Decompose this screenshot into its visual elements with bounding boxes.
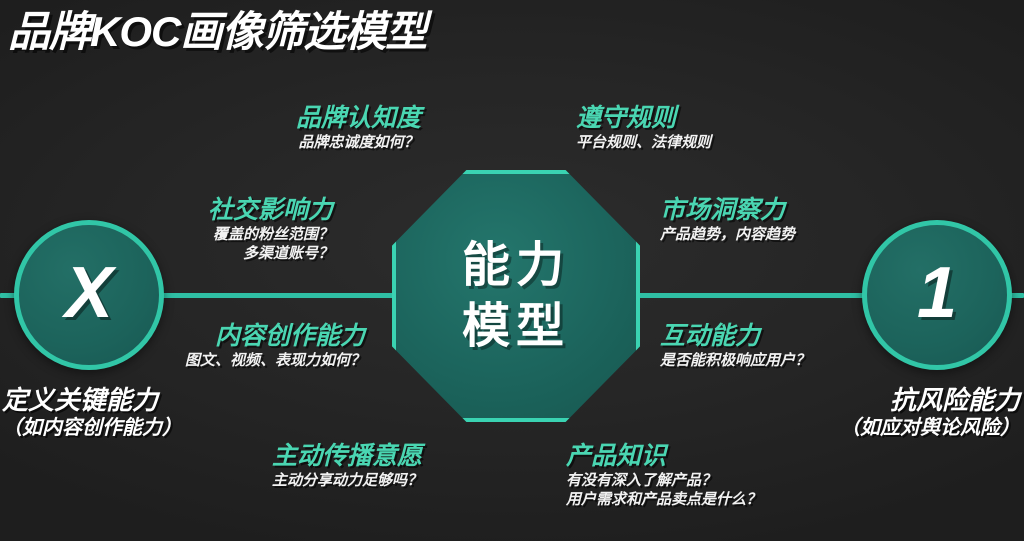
spoke-brand-awareness[interactable]: 品牌认知度 品牌忠诚度如何？: [296, 104, 421, 152]
spoke-brand-awareness-sub-1: 品牌忠诚度如何？: [296, 133, 421, 153]
page-title: 品牌KOC画像筛选模型: [8, 8, 426, 56]
spoke-social-influence-sub-2: 多渠道账号？: [208, 244, 333, 264]
right-node-caption: 抗风险能力 （如应对舆论风险）: [840, 385, 1020, 441]
spoke-product-knowledge-sub-1: 有没有深入了解产品？: [566, 471, 761, 491]
spoke-market-insight-sub-1: 产品趋势，内容趋势: [660, 225, 795, 245]
right-node-caption-sub: （如应对舆论风险）: [840, 416, 1020, 441]
left-node-caption: 定义关键能力 （如内容创作能力）: [2, 385, 182, 441]
spoke-interaction-sub-1: 是否能积极响应用户？: [660, 351, 810, 371]
spoke-spread-willingness-title: 主动传播意愿: [272, 442, 422, 471]
left-node-caption-sub: （如内容创作能力）: [2, 416, 182, 441]
right-node-caption-main: 抗风险能力: [840, 385, 1020, 416]
left-end-node[interactable]: X: [14, 220, 164, 370]
spoke-product-knowledge[interactable]: 产品知识 有没有深入了解产品？ 用户需求和产品卖点是什么？: [566, 442, 761, 510]
spoke-content-creation[interactable]: 内容创作能力 图文、视频、表现力如何？: [185, 322, 365, 370]
spoke-interaction-title: 互动能力: [660, 322, 810, 351]
spoke-spread-willingness-sub-1: 主动分享动力足够吗？: [272, 471, 422, 491]
spoke-social-influence-title: 社交影响力: [208, 196, 333, 225]
spoke-brand-awareness-title: 品牌认知度: [296, 104, 421, 133]
spoke-market-insight-title: 市场洞察力: [660, 196, 795, 225]
spoke-product-knowledge-sub-2: 用户需求和产品卖点是什么？: [566, 490, 761, 510]
left-node-caption-main: 定义关键能力: [2, 385, 182, 416]
infographic-canvas: 品牌KOC画像筛选模型 X 1 能力 模型 品牌认知度 品牌忠诚度如何？ 遵守规…: [0, 0, 1024, 541]
spoke-compliance-sub-1: 平台规则、法律规则: [576, 133, 711, 153]
spoke-content-creation-sub-1: 图文、视频、表现力如何？: [185, 351, 365, 371]
spoke-market-insight[interactable]: 市场洞察力 产品趋势，内容趋势: [660, 196, 795, 244]
spoke-interaction[interactable]: 互动能力 是否能积极响应用户？: [660, 322, 810, 370]
spoke-spread-willingness[interactable]: 主动传播意愿 主动分享动力足够吗？: [272, 442, 422, 490]
spoke-product-knowledge-title: 产品知识: [566, 442, 761, 471]
spoke-social-influence-sub-1: 覆盖的粉丝范围？: [208, 225, 333, 245]
right-end-node[interactable]: 1: [862, 220, 1012, 370]
center-octagon-shape[interactable]: [392, 170, 640, 422]
spoke-social-influence[interactable]: 社交影响力 覆盖的粉丝范围？ 多渠道账号？: [208, 196, 333, 264]
left-node-glyph: X: [65, 257, 113, 329]
spoke-content-creation-title: 内容创作能力: [185, 322, 365, 351]
right-node-glyph: 1: [917, 257, 957, 329]
spoke-compliance-title: 遵守规则: [576, 104, 711, 133]
spoke-compliance[interactable]: 遵守规则 平台规则、法律规则: [576, 104, 711, 152]
